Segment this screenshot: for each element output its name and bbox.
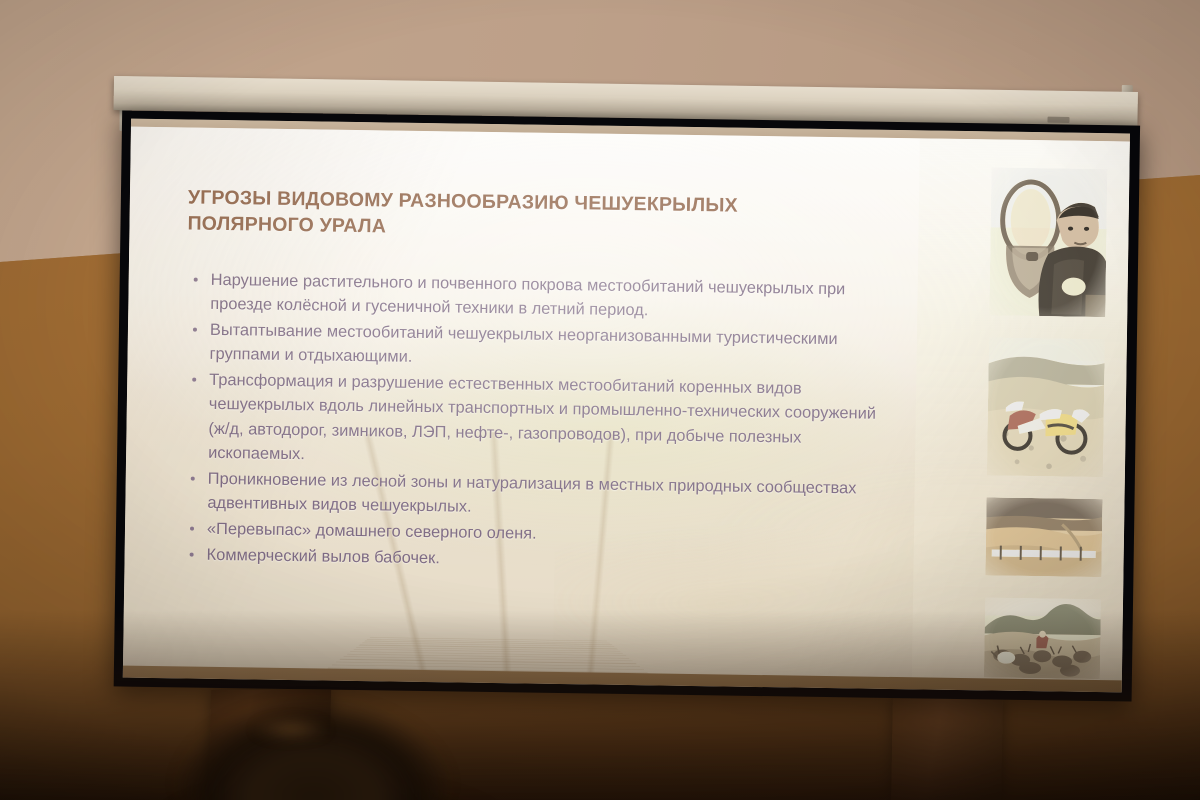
slide-bullet-list: Нарушение растительного и почвенного пок… xyxy=(182,267,891,577)
audience-hair-highlight xyxy=(236,716,346,742)
photo-entomologist-with-net xyxy=(989,167,1107,317)
presentation-slide: УГРОЗЫ ВИДОВОМУ РАЗНООБРАЗИЮ ЧЕШУЕКРЫЛЫХ… xyxy=(123,127,1130,693)
projector-screen-assembly: УГРОЗЫ ВИДОВОМУ РАЗНООБРАЗИЮ ЧЕШУЕКРЫЛЫХ… xyxy=(102,73,1146,699)
photo-motorcycles-on-tundra xyxy=(987,337,1105,477)
slide-content: УГРОЗЫ ВИДОВОМУ РАЗНООБРАЗИЮ ЧЕШУЕКРЫЛЫХ… xyxy=(123,127,1130,693)
bullet-item: Нарушение растительного и почвенного пок… xyxy=(186,267,892,326)
screen-surface: УГРОЗЫ ВИДОВОМУ РАЗНООБРАЗИЮ ЧЕШУЕКРЫЛЫХ… xyxy=(123,119,1130,693)
bullet-item: Проникновение из лесной зоны и натурализ… xyxy=(183,466,889,525)
screen-black-frame: УГРОЗЫ ВИДОВОМУ РАЗНООБРАЗИЮ ЧЕШУЕКРЫЛЫХ… xyxy=(114,110,1140,701)
wall-panel-right xyxy=(891,698,1003,800)
conference-room: УГРОЗЫ ВИДОВОМУ РАЗНООБРАЗИЮ ЧЕШУЕКРЫЛЫХ… xyxy=(0,0,1200,800)
slide-photo-strip xyxy=(984,167,1108,679)
slide-title: УГРОЗЫ ВИДОВОМУ РАЗНООБРАЗИЮ ЧЕШУЕКРЫЛЫХ… xyxy=(187,185,808,246)
bullet-item: Трансформация и разрушение естественных … xyxy=(184,368,890,475)
roller-brand-label xyxy=(1047,117,1069,123)
bullet-item: Вытаптывание местообитаний чешуекрылых н… xyxy=(185,318,891,377)
photo-fence-across-steppe xyxy=(985,497,1102,577)
photo-reindeer-herd xyxy=(984,597,1101,679)
